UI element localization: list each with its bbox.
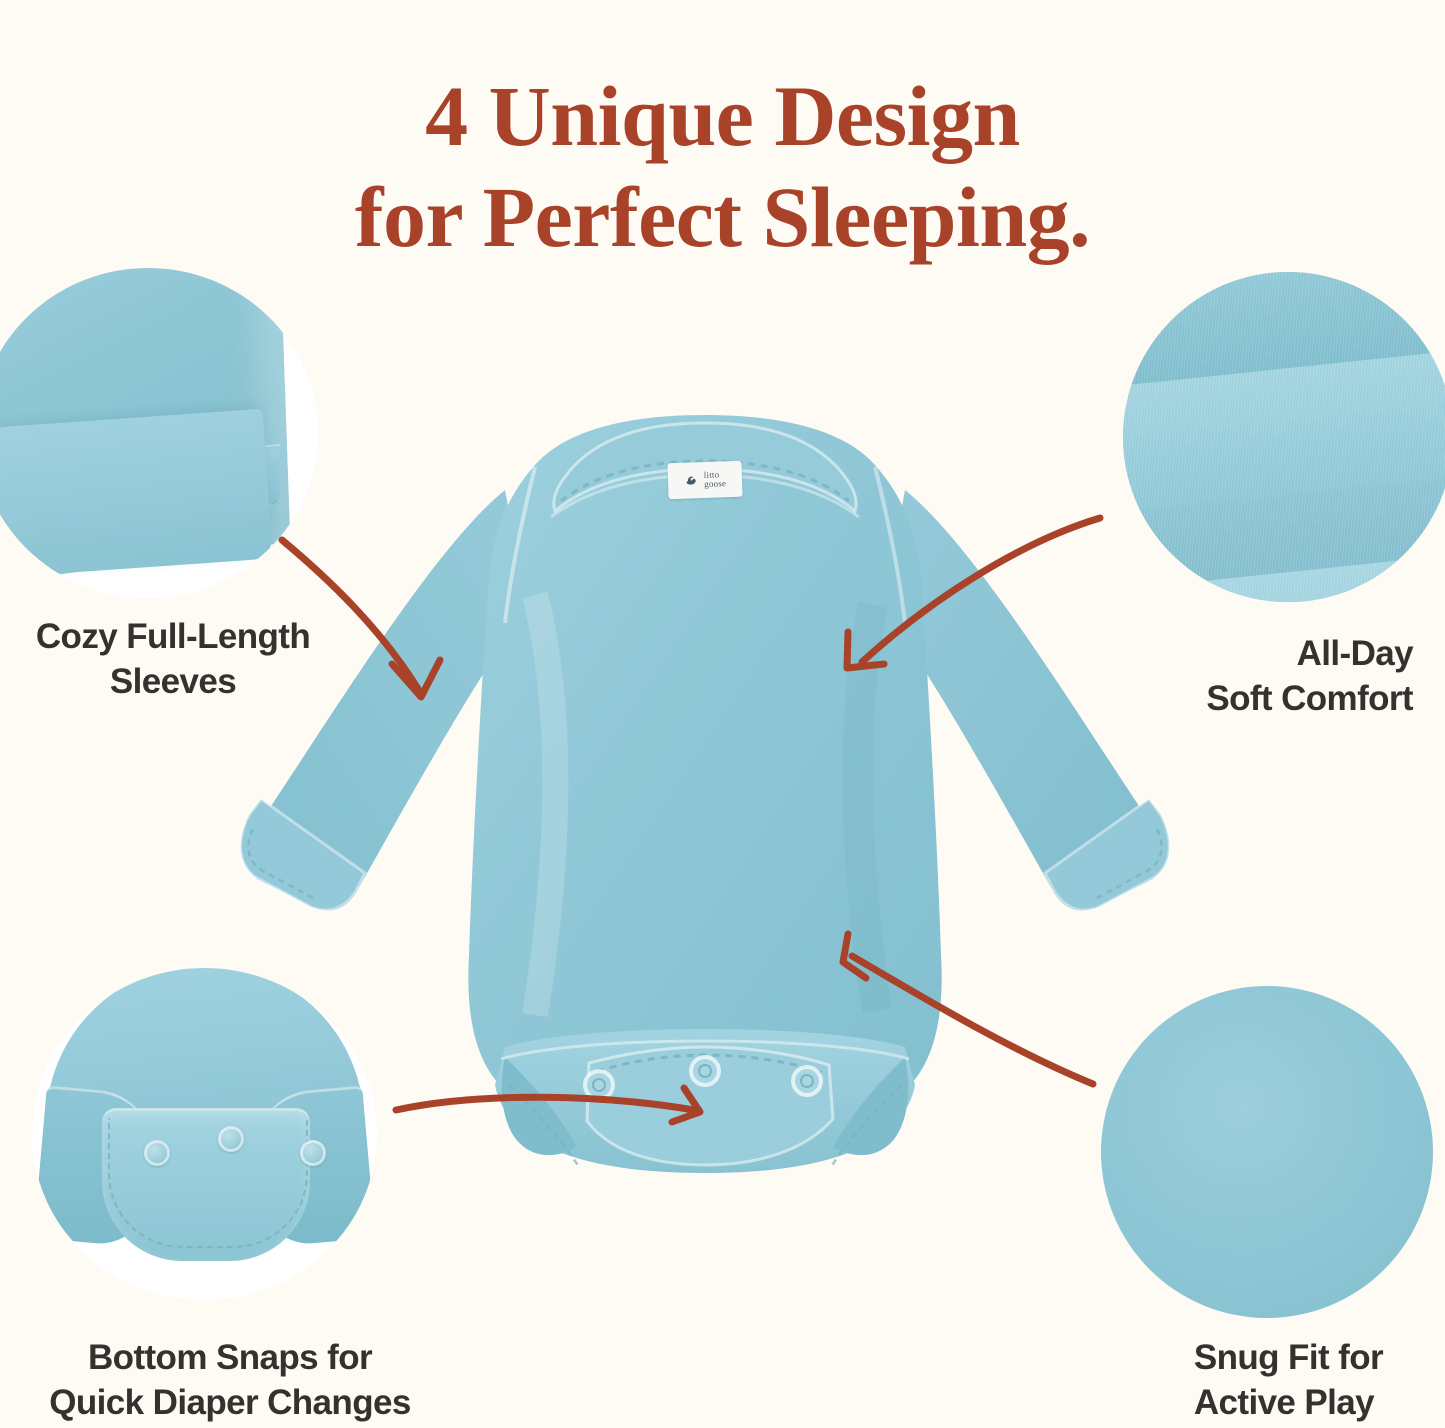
product-bodysuit-image: [205, 395, 1205, 1230]
page-title: 4 Unique Design for Perfect Sleeping.: [0, 66, 1445, 269]
headline-line-2: for Perfect Sleeping.: [0, 167, 1445, 268]
brand-line-2: goose: [704, 479, 726, 489]
swan-icon: [684, 472, 701, 489]
feature-label-line-2: Active Play: [1194, 1381, 1383, 1426]
feature-label-all-day-soft-comfort: All-Day Soft Comfort: [1206, 632, 1413, 722]
brand-tag-text: litto goose: [704, 470, 727, 489]
feature-label-line-1: Snug Fit for: [1194, 1336, 1383, 1381]
feature-label-line-1: Bottom Snaps for: [10, 1336, 450, 1381]
feature-label-bottom-snaps: Bottom Snaps for Quick Diaper Changes: [10, 1336, 450, 1426]
snap-button-icon: [691, 1057, 719, 1085]
snap-button-icon: [144, 1140, 170, 1166]
feature-label-line-2: Sleeves: [8, 660, 338, 705]
infographic-canvas: 4 Unique Design for Perfect Sleeping.: [0, 0, 1445, 1428]
feature-label-line-2: Quick Diaper Changes: [10, 1381, 450, 1426]
feature-label-line-1: Cozy Full-Length: [8, 615, 338, 660]
feature-label-cozy-full-length-sleeves: Cozy Full-Length Sleeves: [8, 615, 338, 705]
feature-label-snug-fit: Snug Fit for Active Play: [1194, 1336, 1383, 1426]
headline-line-1: 4 Unique Design: [425, 68, 1020, 164]
feature-label-line-1: All-Day: [1206, 632, 1413, 677]
brand-neck-tag: litto goose: [667, 461, 742, 500]
snap-button-icon: [585, 1071, 613, 1099]
feature-label-line-2: Soft Comfort: [1206, 677, 1413, 722]
snap-button-icon: [793, 1067, 821, 1095]
